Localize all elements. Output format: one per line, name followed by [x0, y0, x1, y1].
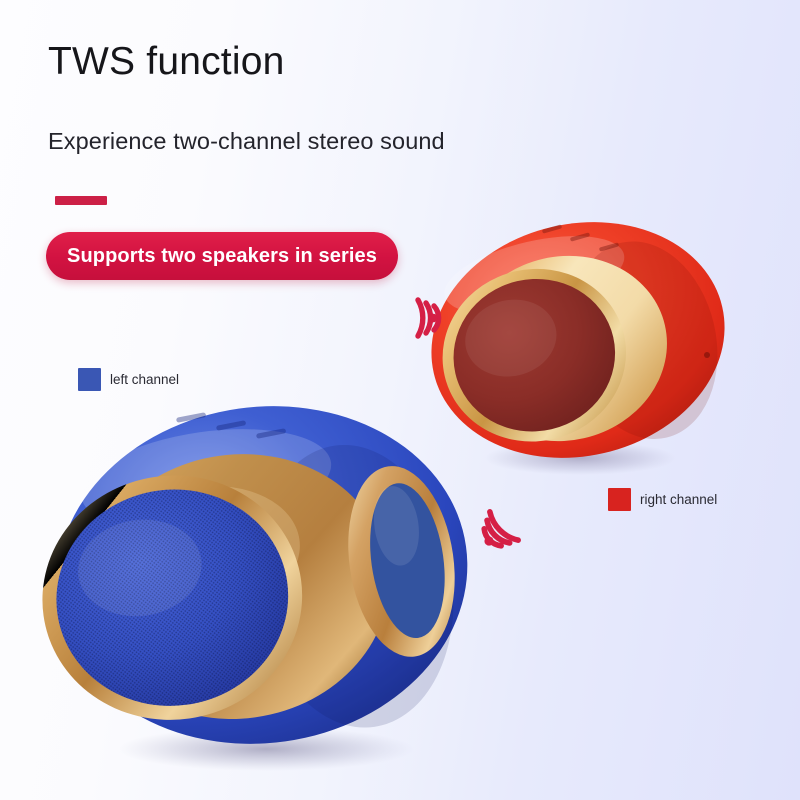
- legend-right-channel-label: right channel: [640, 492, 717, 507]
- accent-dash: [55, 196, 107, 205]
- wifi-dot: [429, 314, 438, 323]
- product-marketing-banner: TWS function Experience two-channel ster…: [0, 0, 800, 800]
- red-square-swatch: [608, 488, 631, 511]
- page-subtitle: Experience two-channel stereo sound: [48, 128, 445, 155]
- feature-badge[interactable]: Supports two speakers in series: [46, 232, 398, 280]
- wifi-dot: [484, 536, 493, 545]
- wireless-signal-icon-blue: [474, 498, 534, 554]
- page-title: TWS function: [48, 40, 284, 84]
- blue-speaker-graphic: [30, 385, 490, 775]
- legend-left-channel: left channel: [78, 368, 179, 391]
- wifi-icon: [388, 292, 444, 344]
- wireless-signal-icon-red: [388, 292, 444, 344]
- blue-speaker: [30, 385, 490, 775]
- legend-right-channel: right channel: [608, 488, 717, 511]
- feature-badge-label: Supports two speakers in series: [67, 245, 377, 268]
- red-speaker-port: [704, 352, 710, 358]
- blue-square-swatch: [78, 368, 101, 391]
- wifi-icon: [474, 498, 534, 554]
- legend-left-channel-label: left channel: [110, 372, 179, 387]
